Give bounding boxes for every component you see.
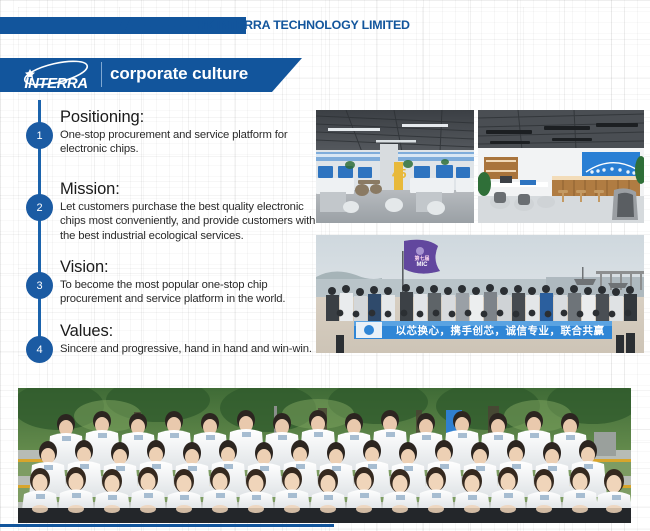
beach-team-outing-photo: 第七届 MIC [316,235,644,353]
svg-text:45: 45 [392,166,406,181]
timeline-item-description: To become the most popular one-stop chip… [60,278,316,307]
banner-divider [101,62,102,87]
footer-rule [0,524,334,527]
timeline-number-badge: 3 [26,272,53,299]
timeline-item-body: Mission:Let customers purchase the best … [60,180,316,243]
svg-text:第七届: 第七届 [414,255,429,262]
timeline-item-heading: Vision: [60,258,316,277]
timeline-item-body: Values:Sincere and progressive, hand in … [60,322,316,356]
timeline-number-badge: 4 [26,336,53,363]
section-title: corporate culture [110,64,248,84]
svg-text:以芯换心，携手创芯，诚信专业，联合共赢: 以芯换心，携手创芯，诚信专业，联合共赢 [396,324,605,337]
open-plan-office-photo: 45 [316,110,474,223]
timeline-item-heading: Mission: [60,180,316,199]
company-name: HK INTERRA TECHNOLOGY LIMITED [196,18,410,32]
timeline-number-badge: 2 [26,194,53,221]
timeline-item-heading: Values: [60,322,316,341]
interra-logo[interactable]: INTERRA [10,60,102,91]
timeline-item-description: One-stop procurement and service platfor… [60,128,316,157]
page-header: HK INTERRA TECHNOLOGY LIMITED [0,17,650,36]
reception-lounge-photo [478,110,644,223]
timeline-item-body: Vision:To become the most popular one-st… [60,258,316,307]
timeline-item-description: Let customers purchase the best quality … [60,200,316,243]
corporate-culture-timeline: 1Positioning:One-stop procurement and se… [24,100,314,366]
timeline-number-badge: 1 [26,122,53,149]
svg-text:INTERRA: INTERRA [24,75,87,91]
timeline-item-heading: Positioning: [60,108,316,127]
company-group-photo [18,388,631,523]
timeline-item-body: Positioning:One-stop procurement and ser… [60,108,316,157]
svg-text:MIC: MIC [417,262,429,268]
timeline-item-description: Sincere and progressive, hand in hand an… [60,342,316,356]
